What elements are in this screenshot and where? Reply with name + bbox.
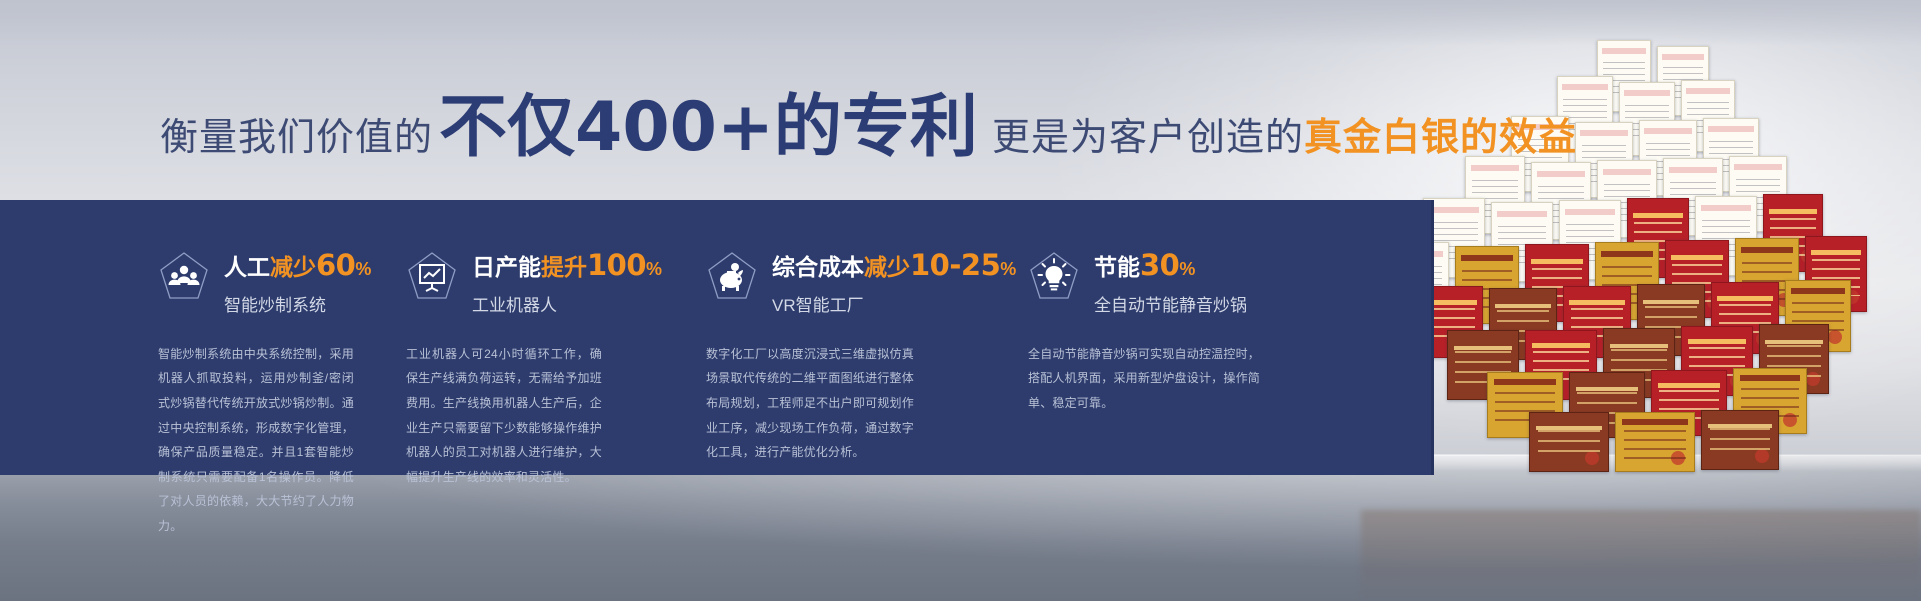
feature-subtitle: 智能炒制系统 [224, 291, 371, 316]
feature-titles: 日产能提升100% 工业机器人 [472, 248, 662, 316]
feature-title-accent: 提升 [541, 254, 587, 280]
certificate-seal-icon [1806, 372, 1820, 386]
feature-titles: 节能30% 全自动节能静音炒锅 [1094, 248, 1247, 316]
feature-item: 节能30% 全自动节能静音炒锅 全自动节能静音炒锅可实现自动控温控时，搭配人机界… [970, 200, 1330, 475]
certificate-plaque [1529, 412, 1609, 472]
feature-title-plain: 综合成本 [772, 254, 864, 280]
headline-emphasis: 不仅400+的专利 [433, 94, 984, 162]
feature-title-plain: 日产能 [472, 254, 541, 280]
certificate-seal-icon [1783, 413, 1797, 427]
feature-subtitle: 全自动节能静音炒锅 [1094, 291, 1247, 316]
feature-title-number: 60 [316, 248, 355, 282]
feature-title-unit: % [1179, 259, 1195, 279]
feature-title-plain: 节能 [1094, 254, 1140, 280]
people-group-icon [158, 250, 210, 302]
certificate-seal-icon [1755, 449, 1769, 463]
feature-item: 日产能提升100% 工业机器人 工业机器人可24小时循环工作，确保生产线满负荷运… [352, 200, 652, 475]
feature-title: 节能30% [1094, 250, 1247, 282]
feature-header: 节能30% 全自动节能静音炒锅 [1028, 248, 1330, 316]
feature-header: 日产能提升100% 工业机器人 [406, 248, 652, 316]
feature-item: 人工减少60% 智能炒制系统 智能炒制系统由中央系统控制，采用机器人抓取投料，运… [0, 200, 352, 475]
chart-board-icon [406, 250, 458, 302]
feature-header: 人工减少60% 智能炒制系统 [158, 248, 352, 316]
feature-body: 数字化工厂以高度沉浸式三维虚拟仿真场景取代传统的二维平面图纸进行整体布局规划，工… [706, 342, 914, 465]
feature-titles: 人工减少60% 智能炒制系统 [224, 248, 371, 316]
certificate-plaque [1615, 412, 1695, 472]
feature-title: 人工减少60% [224, 250, 371, 282]
headline-highlight: 真金白银的效益 [1304, 119, 1577, 162]
feature-header: 综合成本减少10-25% VR智能工厂 [706, 248, 970, 316]
certificate-wall-reflection [1361, 510, 1921, 601]
headline-lead: 衡量我们价值的 [160, 119, 433, 162]
certificate-seal-icon [1828, 330, 1842, 344]
feature-title-accent: 减少 [864, 254, 910, 280]
feature-subtitle: 工业机器人 [472, 291, 662, 316]
feature-title-accent: 减少 [270, 254, 316, 280]
certificate-plaque [1701, 410, 1779, 470]
lightbulb-icon [1028, 250, 1080, 302]
piggy-bank-icon [706, 250, 758, 302]
feature-body: 全自动节能静音炒锅可实现自动控温控时，搭配人机界面，采用新型炉盘设计，操作简单、… [1028, 342, 1260, 416]
feature-title-number: 30 [1140, 248, 1179, 282]
feature-body: 工业机器人可24小时循环工作，确保生产线满负荷运转，无需给予加班费用。生产线换用… [406, 342, 602, 490]
feature-body: 智能炒制系统由中央系统控制，采用机器人抓取投料，运用炒制釜/密闭式炒锅替代传统开… [158, 342, 354, 539]
feature-title: 日产能提升100% [472, 250, 662, 282]
certificate-seal-icon [1671, 451, 1685, 465]
page-title: 衡量我们价值的 不仅400+的专利 更是为客户创造的 真金白银的效益 [0, 72, 1500, 162]
panel-right-edge [1431, 200, 1434, 475]
feature-title-number: 100 [587, 248, 646, 282]
feature-title-plain: 人工 [224, 254, 270, 280]
feature-item: 综合成本减少10-25% VR智能工厂 数字化工厂以高度沉浸式三维虚拟仿真场景取… [652, 200, 970, 475]
certificate-seal-icon [1585, 451, 1599, 465]
feature-panel: 人工减少60% 智能炒制系统 智能炒制系统由中央系统控制，采用机器人抓取投料，运… [0, 200, 1434, 475]
headline-middle: 更是为客户创造的 [984, 119, 1304, 162]
